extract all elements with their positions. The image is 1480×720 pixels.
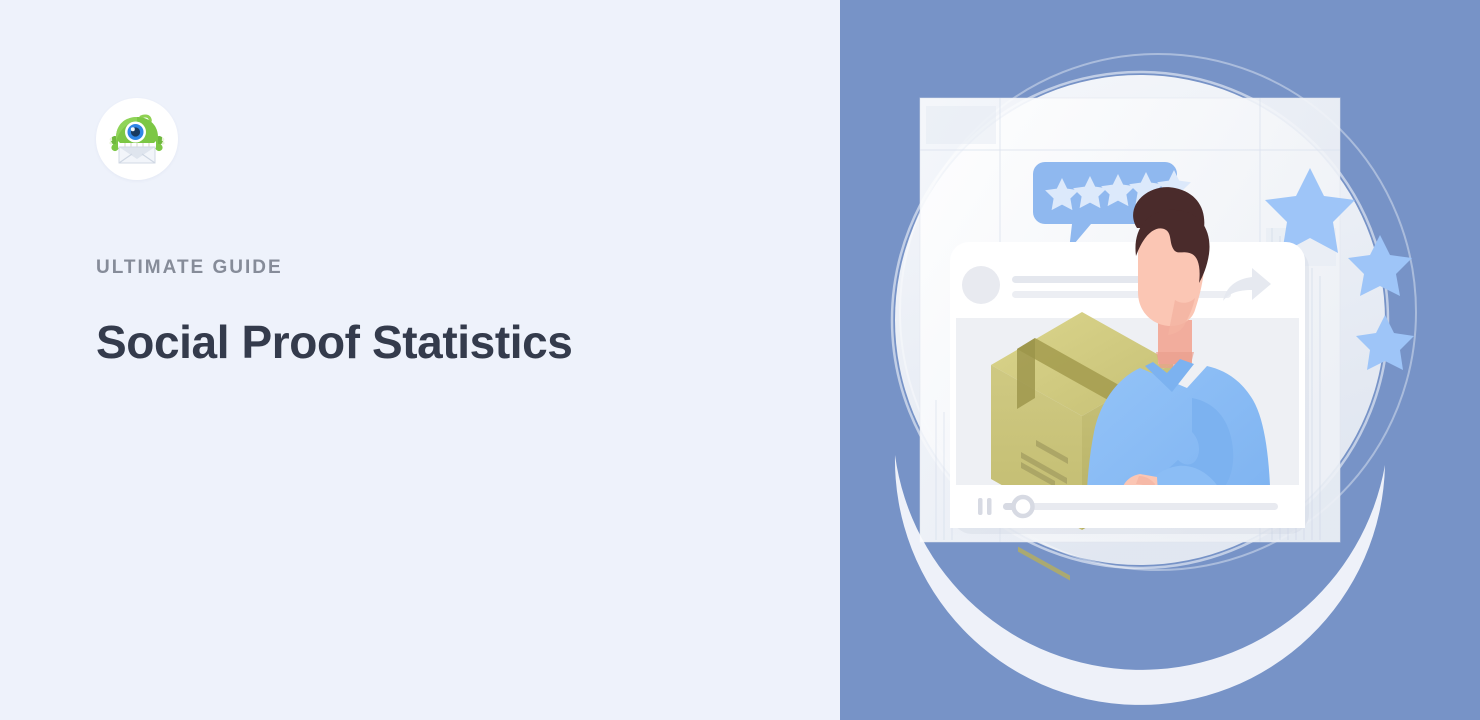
progress-scrubber-handle[interactable] xyxy=(1014,497,1033,516)
text-placeholder-line xyxy=(1012,276,1152,283)
left-content-panel: ULTIMATE GUIDE Social Proof Statistics xyxy=(0,0,840,720)
social-proof-review-illustration xyxy=(840,0,1480,720)
optinmonster-monster-logo[interactable] xyxy=(96,98,178,180)
social-card[interactable] xyxy=(950,187,1309,580)
page-title: Social Proof Statistics xyxy=(96,315,573,369)
illustration-panel xyxy=(840,0,1480,720)
promo-banner: ULTIMATE GUIDE Social Proof Statistics xyxy=(0,0,1480,720)
avatar xyxy=(962,266,1000,304)
eyebrow-label: ULTIMATE GUIDE xyxy=(96,258,283,277)
progress-track[interactable] xyxy=(1003,503,1278,510)
monster-logo-glyph xyxy=(105,107,169,171)
